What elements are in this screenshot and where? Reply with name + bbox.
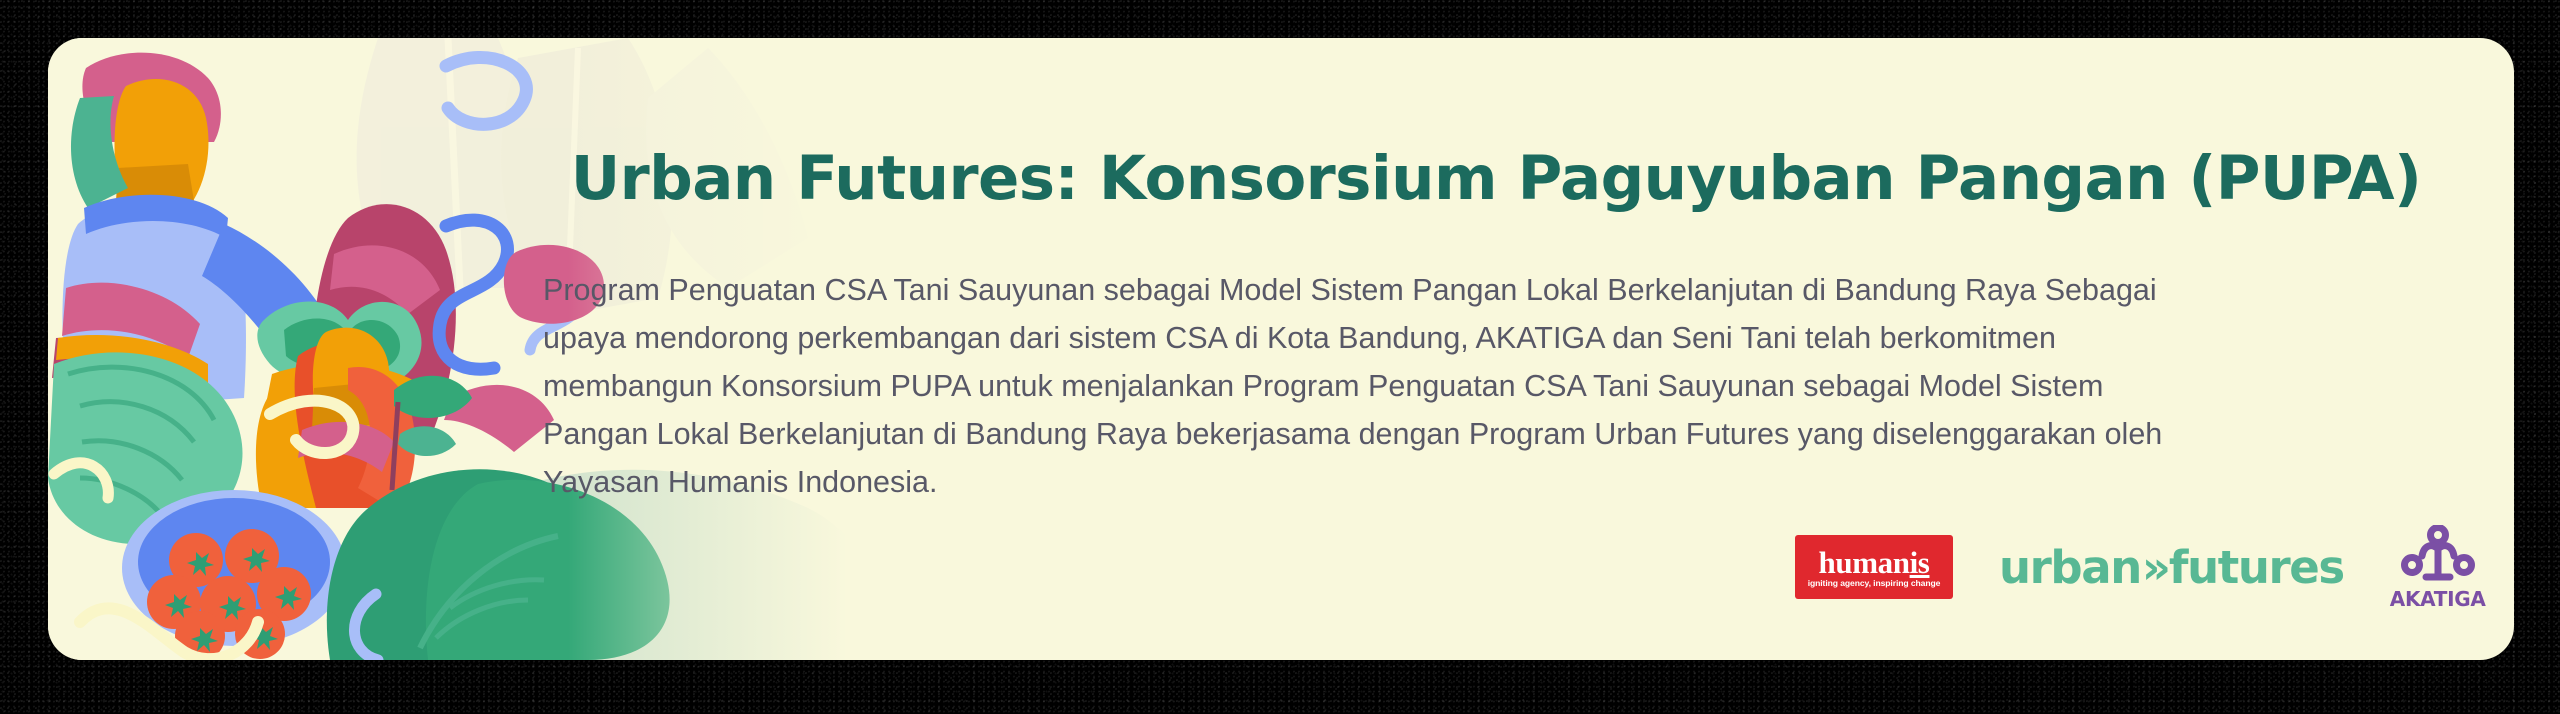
humanis-wordmark: humanis bbox=[1819, 547, 1930, 578]
urban-futures-logo[interactable]: urban » futures bbox=[1999, 541, 2344, 594]
akatiga-figures-icon bbox=[2401, 525, 2475, 588]
program-description: Program Penguatan CSA Tani Sauyunan seba… bbox=[543, 266, 2173, 506]
partner-logo-row: humanis igniting agency, inspiring chang… bbox=[1795, 525, 2514, 609]
info-card: Urban Futures: Konsorsium Paguyuban Pang… bbox=[48, 38, 2514, 660]
page-title: Urban Futures: Konsorsium Paguyuban Pang… bbox=[536, 143, 2456, 214]
humanis-logo[interactable]: humanis igniting agency, inspiring chang… bbox=[1795, 535, 1953, 599]
urban-futures-word-left: urban bbox=[1999, 541, 2141, 594]
akatiga-logo[interactable]: AKATIGA bbox=[2390, 525, 2486, 609]
double-chevron-icon: » bbox=[2142, 541, 2165, 594]
urban-futures-word-right: futures bbox=[2169, 541, 2344, 594]
humanis-word-before: human bbox=[1819, 545, 1910, 580]
humanis-tagline: igniting agency, inspiring change bbox=[1808, 579, 1941, 588]
humanis-word-underlined: is bbox=[1910, 545, 1930, 580]
card-content: Urban Futures: Konsorsium Paguyuban Pang… bbox=[536, 38, 2514, 660]
akatiga-wordmark: AKATIGA bbox=[2390, 589, 2486, 609]
